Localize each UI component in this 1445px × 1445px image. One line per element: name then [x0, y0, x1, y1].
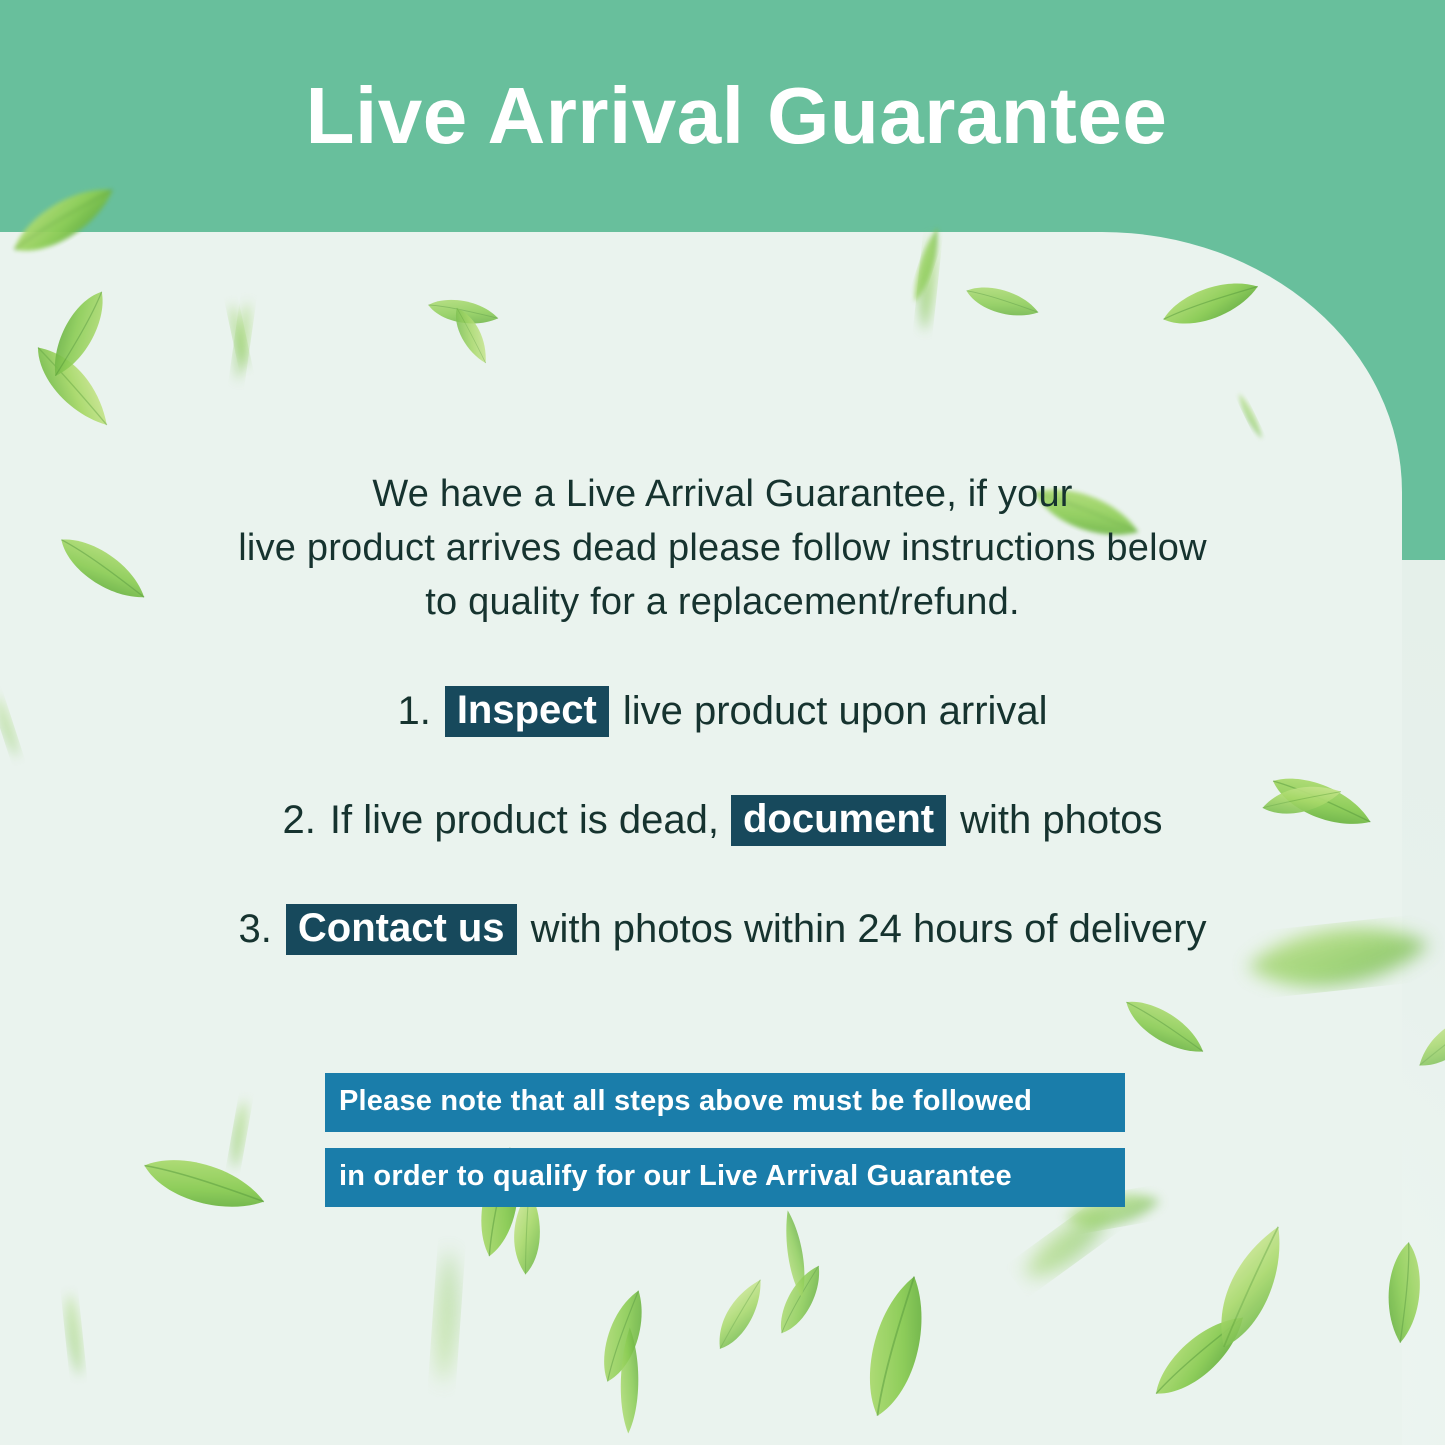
footer-notes: Please note that all steps above must be…: [325, 1073, 1125, 1207]
step-item-3: 3. Contact us with photos within 24 hour…: [0, 904, 1445, 955]
intro-paragraph: We have a Live Arrival Guarantee, if you…: [0, 468, 1445, 630]
step-1-highlight-inspect[interactable]: Inspect: [445, 686, 609, 737]
intro-line-2: live product arrives dead please follow …: [0, 522, 1445, 576]
step-item-2: 2. If live product is dead, document wit…: [0, 795, 1445, 846]
intro-line-1: We have a Live Arrival Guarantee, if you…: [0, 468, 1445, 522]
note-bar-2: in order to qualify for our Live Arrival…: [325, 1148, 1125, 1207]
step-3-text: with photos within 24 hours of delivery: [531, 907, 1207, 952]
step-2-pretext: If live product is dead,: [330, 798, 719, 843]
steps-list: 1. Inspect live product upon arrival 2. …: [0, 686, 1445, 955]
live-arrival-guarantee-poster: Live Arrival Guarantee We have a Live Ar…: [0, 0, 1445, 1445]
page-title: Live Arrival Guarantee: [0, 74, 1445, 158]
step-2-text: with photos: [960, 798, 1162, 843]
step-2-number: 2.: [283, 798, 316, 843]
step-3-number: 3.: [239, 907, 272, 952]
intro-line-3: to quality for a replacement/refund.: [0, 576, 1445, 630]
step-3-highlight-contact-us[interactable]: Contact us: [286, 904, 517, 955]
step-item-1: 1. Inspect live product upon arrival: [0, 686, 1445, 737]
note-bar-1: Please note that all steps above must be…: [325, 1073, 1125, 1132]
step-1-text: live product upon arrival: [623, 689, 1048, 734]
step-1-number: 1.: [397, 689, 430, 734]
step-2-highlight-document[interactable]: document: [731, 795, 946, 846]
